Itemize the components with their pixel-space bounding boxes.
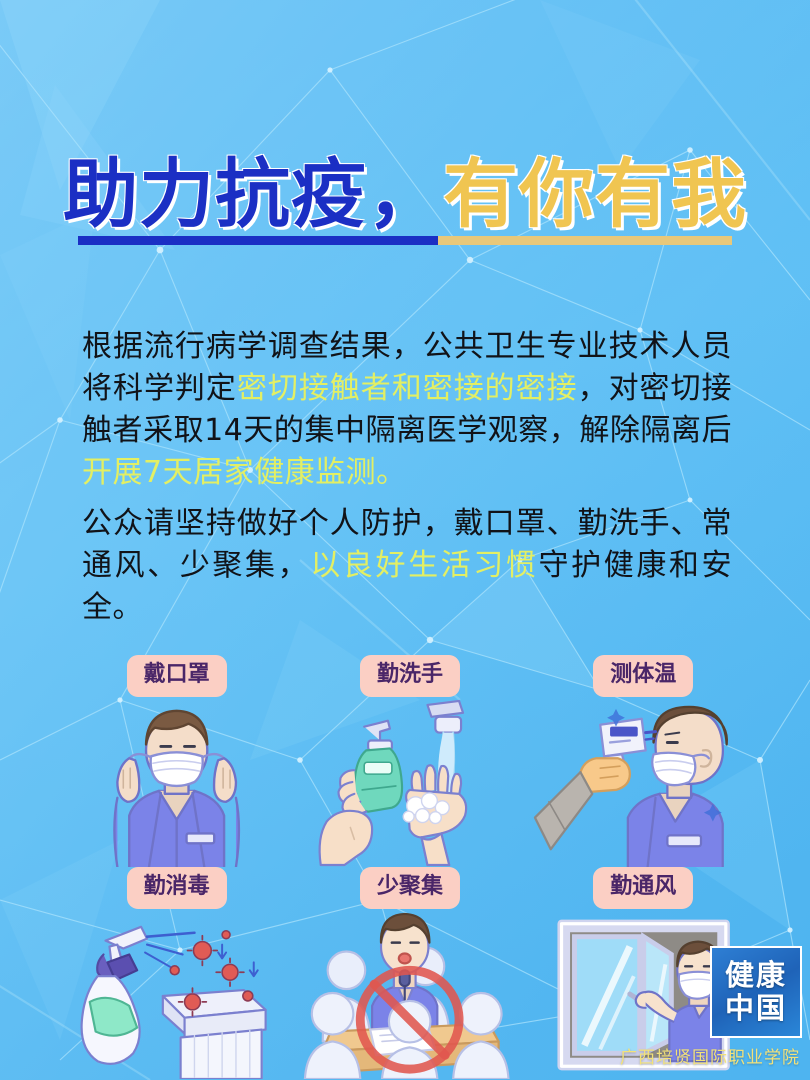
paragraph-epidemiology: 根据流行病学调查结果，公共卫生专业技术人员将科学判定密切接触者和密接的密接，对密… xyxy=(82,326,732,494)
paragraph-public-advice: 公众请坚持做好个人防护，戴口罩、勤洗手、常通风、少聚集，以良好生活习惯守护健康和… xyxy=(82,503,732,629)
measure-item-disinfect: 勤消毒 xyxy=(60,867,293,1079)
disinfect-icon xyxy=(60,911,293,1079)
title-part-blue: 助力抗疫， xyxy=(63,152,443,236)
institution-watermark: 广西培贤国际职业学院 xyxy=(620,1043,800,1068)
measure-item-measure-temperature: 测体温 xyxy=(527,655,760,867)
title-part-gold: 有你有我 xyxy=(443,152,747,236)
title-underline xyxy=(78,236,732,245)
measure-label-ventilate: 勤通风 xyxy=(593,867,693,909)
title-underline-blue xyxy=(78,236,438,245)
wear-mask-icon xyxy=(60,699,293,867)
measure-label-wear-mask: 戴口罩 xyxy=(127,655,227,697)
measure-temperature-icon xyxy=(527,699,760,867)
measure-label-avoid-gathering: 少聚集 xyxy=(360,867,460,909)
measure-item-wear-mask: 戴口罩 xyxy=(60,655,293,867)
measure-item-avoid-gathering: 少聚集 xyxy=(293,867,526,1079)
measure-label-measure-temperature: 测体温 xyxy=(593,655,693,697)
healthy-china-logo: 健康 中国 xyxy=(710,946,802,1038)
measure-label-wash-hands: 勤洗手 xyxy=(360,655,460,697)
poster-title: 助力抗疫，有你有我 xyxy=(0,152,810,236)
para1-highlight-contacts: 密切接触者和密接的密接 xyxy=(237,371,578,406)
title-underline-gold xyxy=(438,236,732,245)
avoid-gathering-icon xyxy=(293,911,526,1079)
measure-label-disinfect: 勤消毒 xyxy=(127,867,227,909)
logo-line-1: 健康 xyxy=(725,959,787,992)
para2-highlight-habits: 以良好生活习惯 xyxy=(310,548,538,583)
wash-hands-icon xyxy=(293,699,526,867)
para1-highlight-monitoring: 开展7天居家健康监测。 xyxy=(82,455,407,490)
prevention-measures-grid: 戴口罩 xyxy=(60,655,760,1080)
measure-item-wash-hands: 勤洗手 xyxy=(293,655,526,867)
poster-canvas: 助力抗疫，有你有我 根据流行病学调查结果，公共卫生专业技术人员将科学判定密切接触… xyxy=(0,0,810,1080)
logo-line-2: 中国 xyxy=(725,992,787,1025)
